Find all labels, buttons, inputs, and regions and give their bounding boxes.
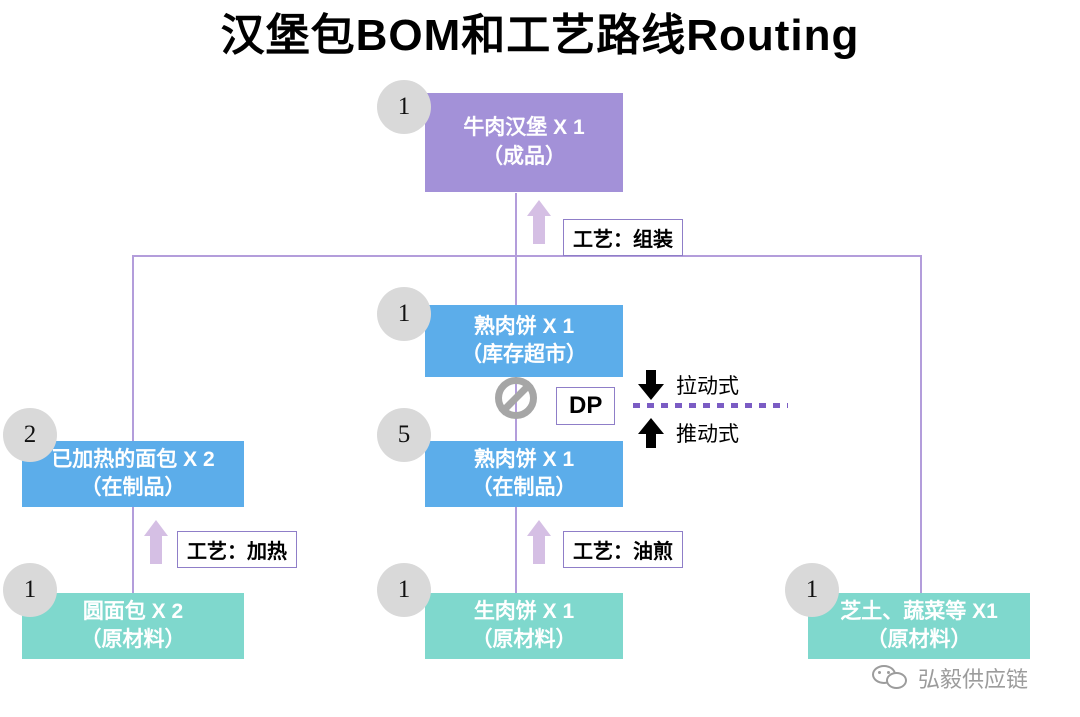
node-label-line2: （在制品） [472, 474, 577, 502]
node-heated-bun-wip[interactable]: 已加热的面包 X 2 （在制品） [22, 441, 244, 507]
connector-branch-right [920, 255, 922, 593]
node-label-line2: （原材料） [867, 626, 972, 654]
connector-branch-horizontal [132, 255, 922, 257]
node-label-line2: （在制品） [81, 474, 186, 502]
legend-divider-dotted [633, 403, 788, 408]
page-title: 汉堡包BOM和工艺路线Routing [0, 10, 1080, 63]
watermark: 弘毅供应链 [872, 662, 1028, 694]
connector-bun-column [132, 506, 134, 593]
watermark-label: 弘毅供应链 [918, 662, 1028, 694]
legend-item-pull: 拉动式 [638, 368, 739, 402]
node-label-line1: 已加热的面包 X 2 [51, 446, 214, 474]
process-label-frying[interactable]: 工艺：油煎 [563, 531, 683, 568]
diagram-canvas: 汉堡包BOM和工艺路线Routing 1 牛肉汉堡 X 1 （成品） 工艺：组装… [0, 0, 1080, 717]
up-arrow-icon [638, 418, 664, 448]
node-label-line1: 生肉饼 X 1 [474, 598, 574, 626]
no-entry-icon [495, 377, 537, 419]
badge-raw-patty: 1 [377, 563, 431, 617]
node-label-line2: （成品） [482, 143, 566, 171]
down-arrow-icon [638, 370, 664, 400]
badge-heated-bun-wip: 2 [3, 408, 57, 462]
badge-cheese-vegetables: 1 [785, 563, 839, 617]
process-label-assembly[interactable]: 工艺：组装 [563, 219, 683, 256]
node-finished-good[interactable]: 牛肉汉堡 X 1 （成品） [425, 93, 623, 192]
node-cheese-vegetables[interactable]: 芝土、蔬菜等 X1 （原材料） [808, 593, 1030, 659]
badge-cooked-patty-wip: 5 [377, 408, 431, 462]
process-arrow-assembly [527, 200, 551, 244]
badge-cooked-patty-supermarket: 1 [377, 287, 431, 341]
badge-round-bun-raw: 1 [3, 563, 57, 617]
node-cooked-patty-supermarket[interactable]: 熟肉饼 X 1 （库存超市） [425, 305, 623, 377]
node-raw-patty[interactable]: 生肉饼 X 1 （原材料） [425, 593, 623, 659]
badge-finished-good: 1 [377, 80, 431, 134]
process-arrow-heating [144, 520, 168, 564]
node-label-line1: 芝土、蔬菜等 X1 [840, 598, 998, 626]
decoupling-point-label[interactable]: DP [556, 387, 615, 425]
process-arrow-frying [527, 520, 551, 564]
node-label-line1: 牛肉汉堡 X 1 [463, 114, 584, 142]
node-label-line2: （原材料） [81, 626, 186, 654]
node-label-line2: （库存超市） [461, 341, 587, 369]
process-label-heating[interactable]: 工艺：加热 [177, 531, 297, 568]
node-label-line1: 熟肉饼 X 1 [474, 313, 574, 341]
connector-branch-left [132, 255, 134, 441]
node-label-line1: 熟肉饼 X 1 [474, 446, 574, 474]
node-label-line1: 圆面包 X 2 [83, 598, 183, 626]
node-round-bun-raw[interactable]: 圆面包 X 2 （原材料） [22, 593, 244, 659]
legend-label-pull: 拉动式 [676, 370, 739, 400]
node-cooked-patty-wip[interactable]: 熟肉饼 X 1 （在制品） [425, 441, 623, 507]
legend: 拉动式 推动式 [638, 368, 739, 450]
legend-label-push: 推动式 [676, 418, 739, 448]
legend-item-push: 推动式 [638, 416, 739, 450]
node-label-line2: （原材料） [472, 626, 577, 654]
wechat-icon [872, 665, 910, 691]
